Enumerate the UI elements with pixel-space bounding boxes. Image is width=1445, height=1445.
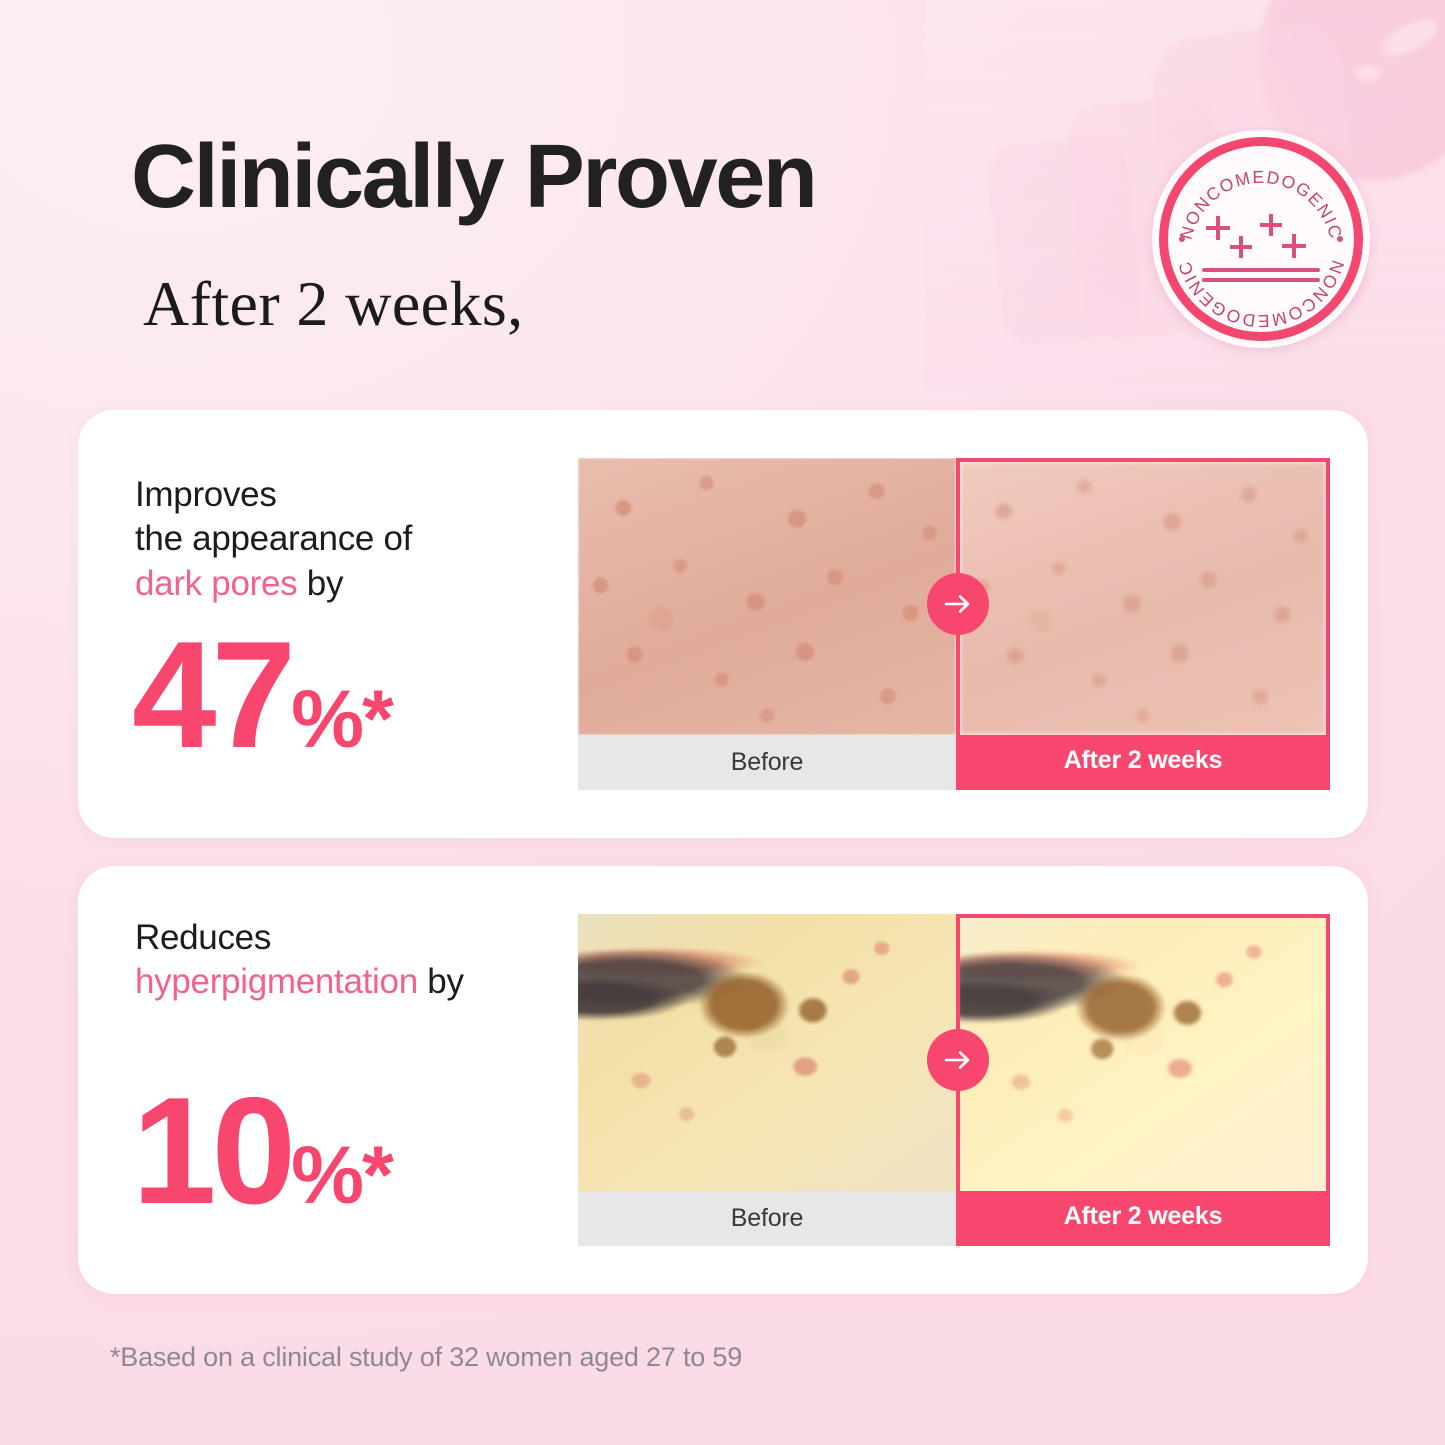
plus-icon: [1260, 214, 1282, 236]
before-photo: [578, 914, 956, 1191]
before-label: Before: [578, 1191, 956, 1246]
claim-line-1: Reduces: [135, 916, 464, 960]
claim-suffix: by: [418, 962, 464, 1001]
comparison-divider: [956, 458, 960, 790]
study-footnote: *Based on a clinical study of 32 women a…: [110, 1342, 742, 1373]
stat-asterisk: *: [362, 1130, 389, 1221]
stat-value-block: 47%*: [132, 626, 389, 766]
before-after-comparison: Before After 2 weeks: [578, 914, 1330, 1246]
stat-unit: %: [291, 1130, 362, 1221]
after-label: After 2 weeks: [956, 735, 1330, 790]
claim-text-block: Improves the appearance of dark pores by: [135, 473, 412, 606]
claim-line-3: dark pores by: [135, 562, 412, 606]
skin-pigmentation-after: [958, 916, 1328, 1191]
claim-line-2: hyperpigmentation by: [135, 960, 464, 1004]
badge-rule-line: [1202, 278, 1320, 282]
claim-highlight: hyperpigmentation: [135, 962, 418, 1001]
claim-card-dark-pores: Improves the appearance of dark pores by…: [78, 410, 1368, 838]
stat-value-block: 10%*: [132, 1082, 389, 1222]
skin-texture-after: [960, 462, 1326, 735]
after-label: After 2 weeks: [956, 1191, 1330, 1246]
claim-suffix: by: [297, 564, 343, 603]
comparison-divider: [956, 914, 960, 1246]
stat-asterisk: *: [362, 674, 389, 765]
plus-icon: [1206, 216, 1230, 240]
before-after-comparison: Before After 2 weeks: [578, 458, 1330, 790]
after-photo: [956, 458, 1330, 735]
noncomedogenic-badge: NONCOMEDOGENIC NONCOMEDOGENIC: [1152, 130, 1370, 348]
stat-number: 47: [132, 610, 291, 780]
stat-number: 10: [132, 1066, 291, 1236]
badge-rule-line: [1202, 268, 1320, 272]
claim-line-1: Improves: [135, 473, 412, 517]
claim-card-hyperpigmentation: Reduces hyperpigmentation by 10%* Before…: [78, 866, 1368, 1294]
claim-text-block: Reduces hyperpigmentation by: [135, 916, 464, 1005]
stat-unit: %: [291, 674, 362, 765]
arrow-right-icon: [927, 1029, 989, 1091]
plus-icon: [1230, 236, 1252, 258]
before-label: Before: [578, 735, 956, 790]
comparison-labels: Before After 2 weeks: [578, 735, 1330, 790]
page-subtitle: After 2 weeks,: [143, 272, 524, 336]
before-photo: [578, 458, 956, 735]
claim-highlight: dark pores: [135, 564, 297, 603]
page-title: Clinically Proven: [131, 132, 815, 222]
comparison-labels: Before After 2 weeks: [578, 1191, 1330, 1246]
plus-icon: [1282, 234, 1306, 258]
skin-pigmentation-before: [578, 914, 956, 1191]
claim-line-2: the appearance of: [135, 517, 412, 561]
infographic-canvas: Clinically Proven After 2 weeks, NONCOME…: [0, 0, 1445, 1445]
after-photo: [956, 914, 1330, 1191]
sparkle-lines-icon: [1198, 214, 1324, 292]
skin-texture-before: [578, 458, 956, 735]
arrow-right-icon: [927, 573, 989, 635]
